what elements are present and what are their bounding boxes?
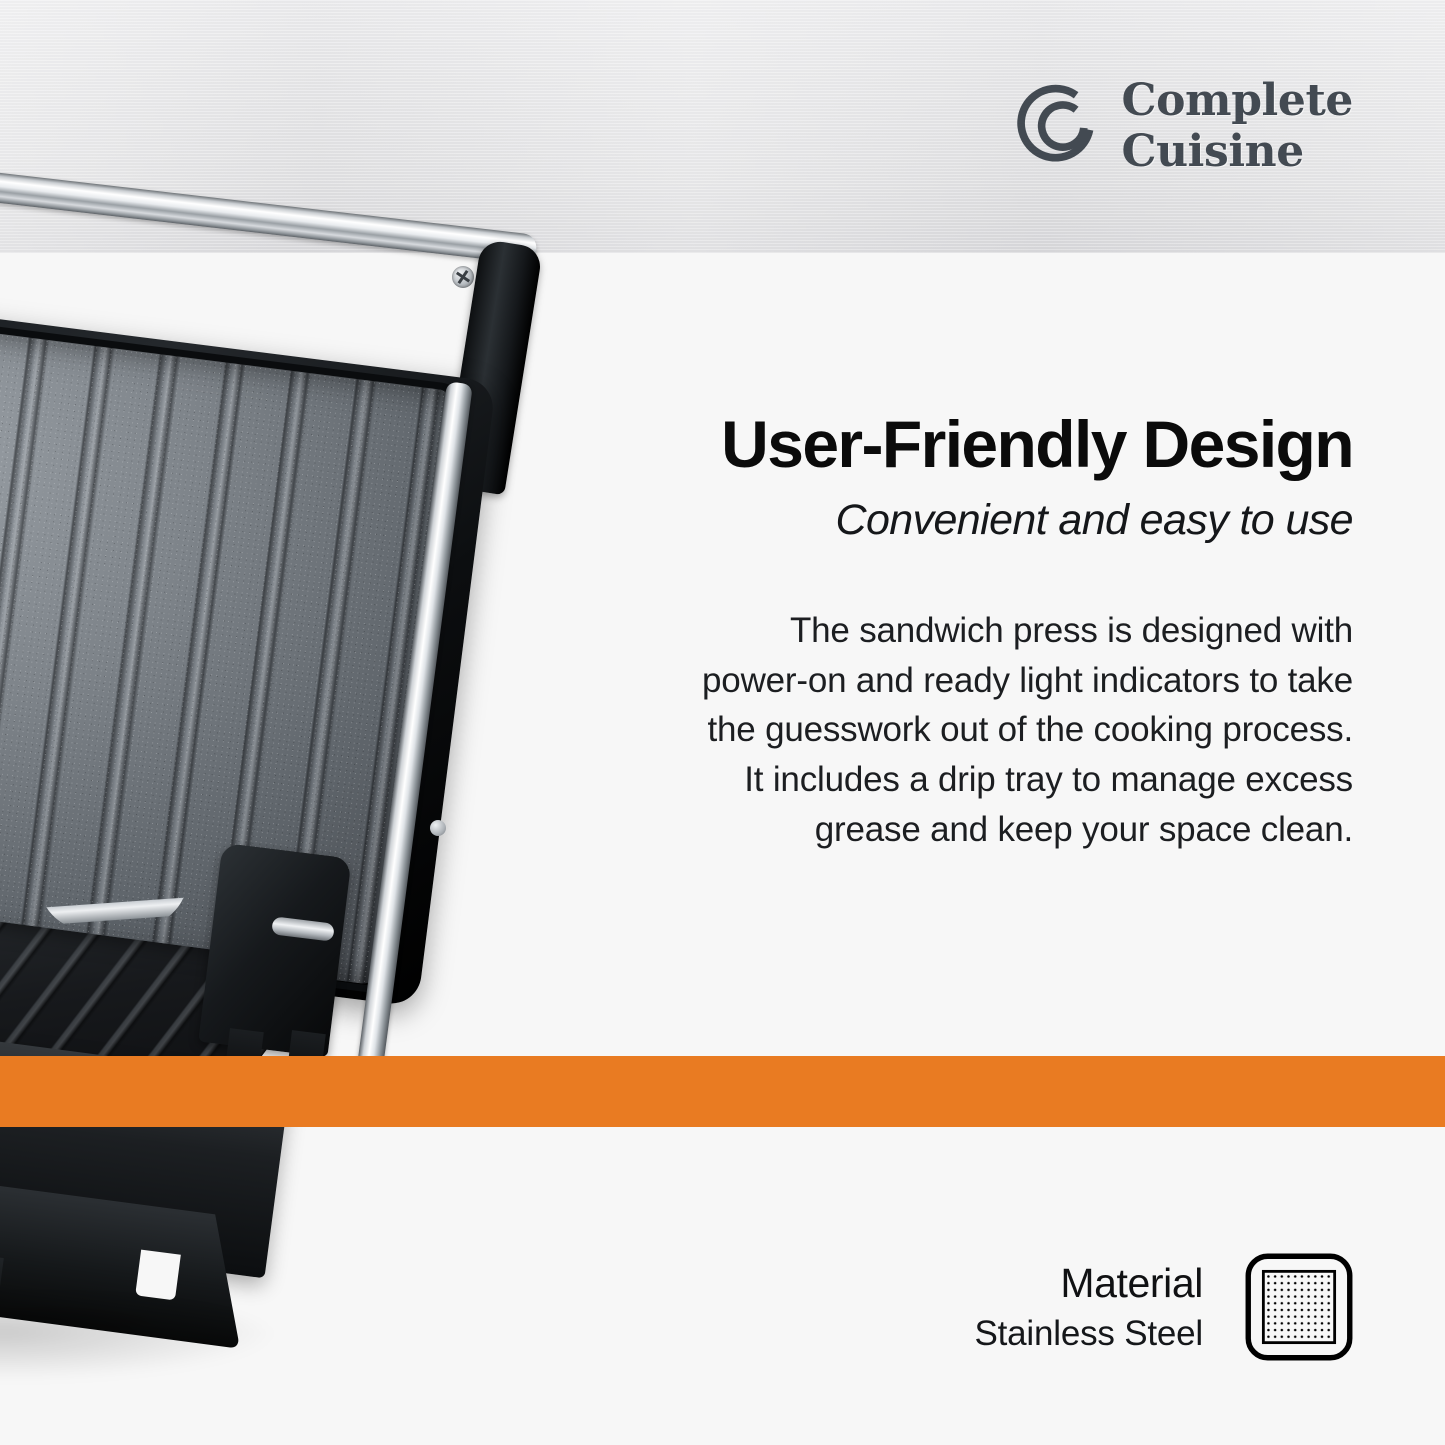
- brand-wordmark: Complete Cuisine: [1121, 79, 1353, 174]
- material-spec-text: Material Stainless Steel: [974, 1261, 1203, 1354]
- hinge-block: [198, 843, 351, 1057]
- orange-accent-band: [0, 1056, 1445, 1127]
- page-title: User-Friendly Design: [693, 410, 1353, 479]
- upper-plate-shell: [0, 283, 496, 1007]
- product-feature-card: Complete Cuisine User-Friendly Design Co…: [0, 0, 1445, 1445]
- product-drop-shadow: [0, 1300, 280, 1380]
- plate-nonstick-texture: [0, 298, 457, 986]
- upper-ribbed-grill-plate: [0, 298, 457, 986]
- brand-name-line2: Cuisine: [1121, 130, 1353, 174]
- hinge-pin: [271, 916, 335, 941]
- chrome-side-arm: [357, 381, 473, 1068]
- body-copy: The sandwich press is designed with powe…: [693, 606, 1353, 854]
- brand-logo: Complete Cuisine: [1007, 78, 1353, 174]
- base-skirt: [0, 1141, 240, 1348]
- base-body: [0, 1002, 290, 1279]
- perforated-steel-plate-icon: [1245, 1253, 1353, 1361]
- page-subtitle: Convenient and easy to use: [693, 497, 1353, 544]
- handle-screw-icon: [452, 266, 474, 288]
- upper-plate-rim: [0, 291, 467, 995]
- material-spec-row: Material Stainless Steel: [974, 1253, 1353, 1361]
- black-corner-elbow: [443, 239, 543, 496]
- chrome-spring-wire: [38, 873, 191, 934]
- spec-label: Material: [974, 1261, 1203, 1306]
- base-foot: [0, 1242, 4, 1323]
- feature-text-column: User-Friendly Design Convenient and easy…: [693, 410, 1353, 854]
- double-arc-c-logo-icon: [1007, 78, 1103, 174]
- base-notch-cutout: [135, 1250, 181, 1301]
- orange-accent-fill: [0, 1056, 1445, 1127]
- brand-name-line1: Complete: [1121, 79, 1353, 123]
- side-arm-screw-icon: [430, 820, 446, 836]
- spec-value: Stainless Steel: [974, 1315, 1203, 1354]
